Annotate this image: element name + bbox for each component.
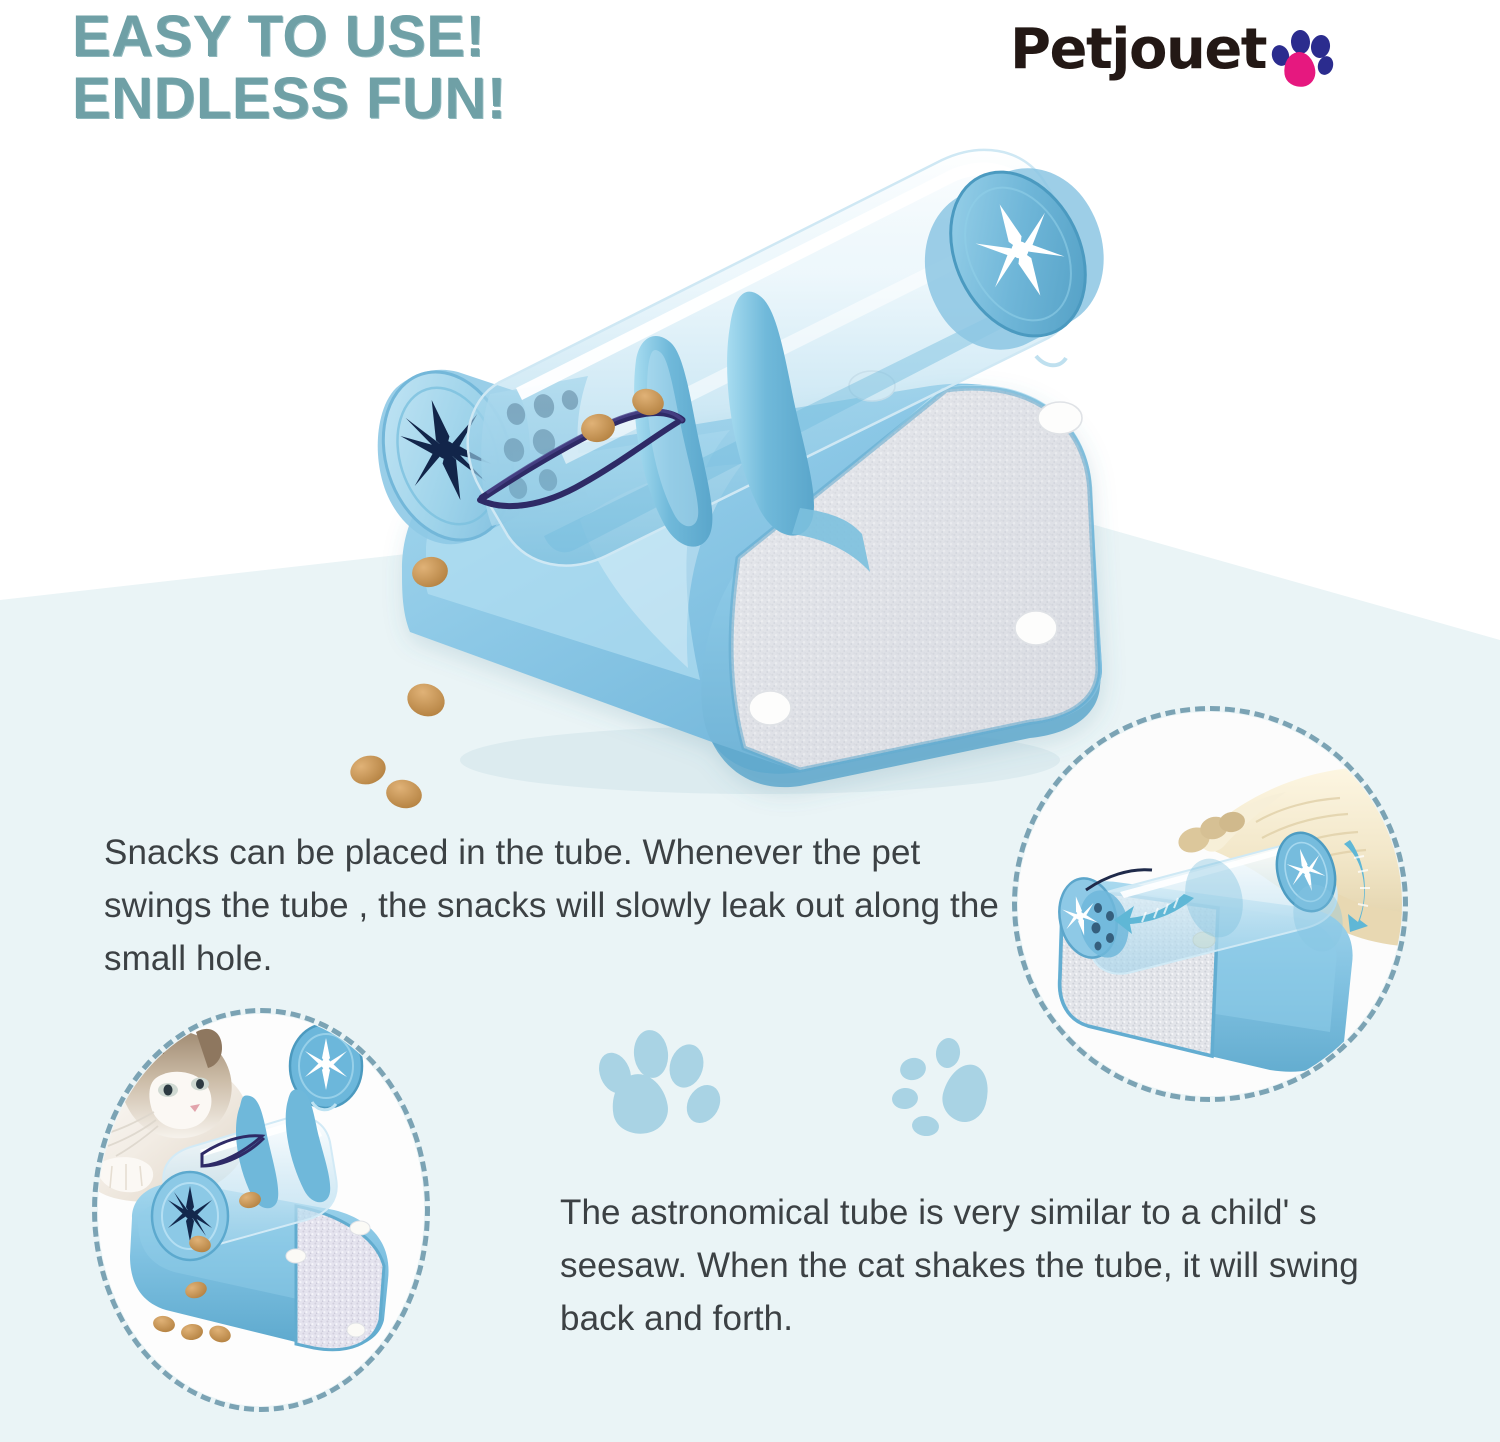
inset-photo-paw-swing: [1012, 706, 1408, 1102]
end-cap-left: [152, 1172, 228, 1260]
inset-photo-cat-with-toy: [92, 1008, 430, 1412]
brand-logo: Petjouet: [1010, 14, 1334, 84]
inset-left-image: [98, 1014, 424, 1406]
brand-name: Petjouet: [1010, 17, 1266, 82]
page-title: EASY TO USE! ENDLESS FUN!: [72, 6, 507, 130]
product-illustration: [330, 120, 1190, 820]
inset-left-illustration: [98, 1014, 424, 1406]
inset-right-image: [1018, 712, 1402, 1096]
description-paragraph-2: The astronomical tube is very similar to…: [560, 1186, 1420, 1346]
paw-watermark-small: [890, 1038, 995, 1138]
inset-right-illustration: [1018, 712, 1402, 1096]
paw-watermark-large: [600, 1028, 730, 1148]
poster-canvas: EASY TO USE! ENDLESS FUN! Petjouet: [0, 0, 1500, 1442]
paw-print-icon: [1272, 22, 1334, 84]
hero-product-image: [330, 120, 1190, 820]
description-paragraph-1: Snacks can be placed in the tube. Whenev…: [104, 826, 1009, 986]
